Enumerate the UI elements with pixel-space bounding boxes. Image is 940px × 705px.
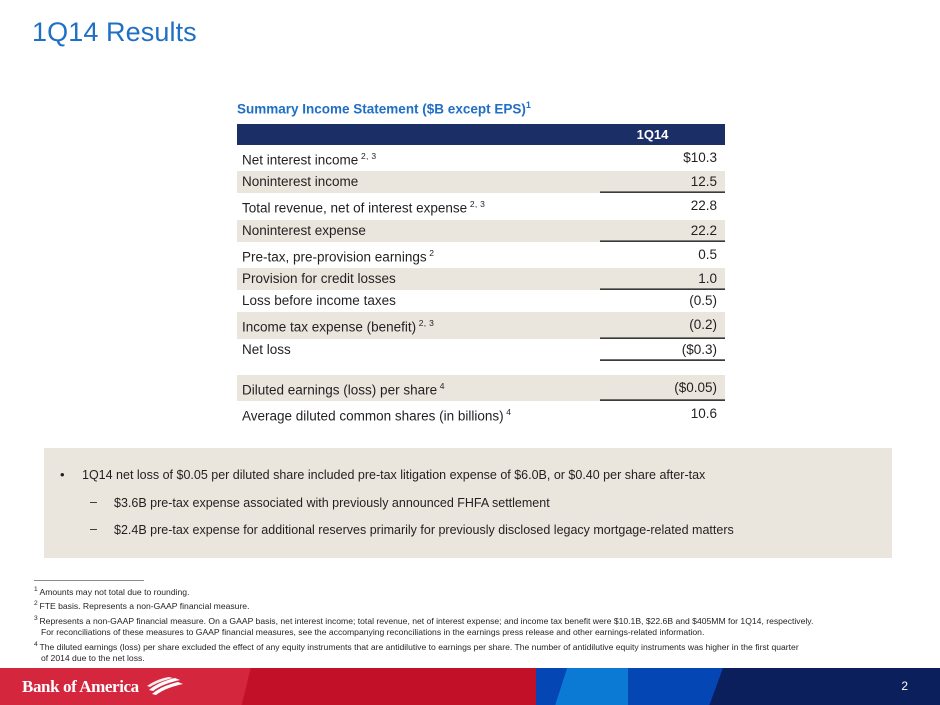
table-row-value: (0.2)	[600, 312, 725, 339]
spacer-cell	[237, 361, 600, 375]
row-footnote-ref: 2	[427, 248, 435, 258]
row-label-text: Income tax expense (benefit)	[242, 320, 416, 335]
table-row: Noninterest income12.5	[237, 171, 725, 193]
bullet-dash-icon: –	[90, 496, 114, 510]
table-row-value: $10.3	[600, 145, 725, 172]
table-row: Pre-tax, pre-provision earnings 20.5	[237, 242, 725, 269]
table-row-value: (0.5)	[600, 290, 725, 312]
row-footnote-ref: 2, 3	[467, 199, 485, 209]
row-label-text: Pre-tax, pre-provision earnings	[242, 249, 427, 264]
table-caption-footnote-ref: 1	[526, 100, 531, 110]
footnote-continuation: of 2014 due to the net loss.	[34, 653, 914, 665]
row-footnote-ref: 2, 3	[416, 318, 434, 328]
table-row-value: 22.2	[600, 220, 725, 242]
summary-income-statement: Summary Income Statement ($B except EPS)…	[237, 100, 725, 428]
table-row: Net loss($0.3)	[237, 339, 725, 361]
table-row: Noninterest expense22.2	[237, 220, 725, 242]
table-row-label: Average diluted common shares (in billio…	[237, 401, 600, 428]
commentary-panel: • 1Q14 net loss of $0.05 per diluted sha…	[44, 448, 892, 558]
table-row-label: Loss before income taxes	[237, 290, 600, 312]
footnote-item: 4The diluted earnings (loss) per share e…	[34, 639, 914, 665]
flag-stripes-icon	[147, 677, 185, 697]
table-row-label: Net loss	[237, 339, 600, 361]
row-footnote-ref: 2, 3	[358, 151, 376, 161]
table-caption-text: Summary Income Statement ($B except EPS)	[237, 102, 526, 117]
table-row: Total revenue, net of interest expense 2…	[237, 193, 725, 220]
table-row-label: Noninterest income	[237, 171, 600, 193]
table-row-value: ($0.3)	[600, 339, 725, 361]
bullet-sub-1-text: $3.6B pre-tax expense associated with pr…	[114, 496, 550, 510]
row-label-text: Loss before income taxes	[242, 293, 396, 308]
table-row: Income tax expense (benefit) 2, 3(0.2)	[237, 312, 725, 339]
logo-wordmark: Bank of America	[22, 677, 139, 697]
row-footnote-ref: 4	[504, 407, 512, 417]
bullet-primary-text: 1Q14 net loss of $0.05 per diluted share…	[82, 468, 705, 482]
table-row-label: Income tax expense (benefit) 2, 3	[237, 312, 600, 339]
footnote-marker: 2	[34, 600, 38, 607]
row-label-text: Net loss	[242, 342, 291, 357]
footnote-marker: 1	[34, 586, 38, 593]
footnote-item: 1Amounts may not total due to rounding.	[34, 584, 914, 598]
table-caption: Summary Income Statement ($B except EPS)…	[237, 100, 725, 117]
spacer-cell	[600, 361, 725, 375]
bullet-item-primary: • 1Q14 net loss of $0.05 per diluted sha…	[60, 468, 705, 482]
footnote-marker: 4	[34, 641, 38, 648]
footnote-text: FTE basis. Represents a non-GAAP financi…	[39, 601, 249, 611]
footnote-text: Represents a non-GAAP financial measure.…	[39, 616, 813, 626]
table-row-label: Total revenue, net of interest expense 2…	[237, 193, 600, 220]
row-footnote-ref: 4	[437, 381, 445, 391]
bank-of-america-logo: Bank of America	[22, 677, 185, 697]
table-row: Provision for credit losses1.0	[237, 268, 725, 290]
bullet-dash-icon: –	[90, 523, 114, 537]
table-row: Net interest income 2, 3$10.3	[237, 145, 725, 172]
slide-footer: Bank of America 2	[0, 668, 940, 705]
table-row-label: Diluted earnings (loss) per share 4	[237, 375, 600, 402]
table-row-value: ($0.05)	[600, 375, 725, 402]
page-number: 2	[901, 679, 908, 693]
footnote-text: The diluted earnings (loss) per share ex…	[39, 642, 798, 652]
table-row-label: Pre-tax, pre-provision earnings 2	[237, 242, 600, 269]
footnote-marker: 3	[34, 615, 38, 622]
table-header-row: 1Q14	[237, 124, 725, 145]
footer-band-light-blue	[536, 668, 628, 705]
footnote-divider	[34, 580, 144, 581]
row-label-text: Total revenue, net of interest expense	[242, 201, 467, 216]
bullet-item-sub-1: – $3.6B pre-tax expense associated with …	[90, 496, 550, 510]
table-spacer-row	[237, 361, 725, 375]
footnote-item: 3Represents a non-GAAP financial measure…	[34, 613, 914, 639]
financial-table: 1Q14 Net interest income 2, 3$10.3Nonint…	[237, 124, 725, 428]
financial-table-body: Net interest income 2, 3$10.3Noninterest…	[237, 145, 725, 428]
row-label-text: Average diluted common shares (in billio…	[242, 409, 504, 424]
bullet-dot-icon: •	[60, 468, 82, 482]
table-row-label: Noninterest expense	[237, 220, 600, 242]
footnote-item: 2FTE basis. Represents a non-GAAP financ…	[34, 598, 914, 612]
table-row: Diluted earnings (loss) per share 4($0.0…	[237, 375, 725, 402]
table-row-value: 1.0	[600, 268, 725, 290]
table-header-label	[237, 124, 600, 145]
table-row-value: 0.5	[600, 242, 725, 269]
table-row-value: 12.5	[600, 171, 725, 193]
row-label-text: Noninterest income	[242, 174, 358, 189]
bullet-sub-2-text: $2.4B pre-tax expense for additional res…	[114, 523, 734, 537]
table-row-label: Net interest income 2, 3	[237, 145, 600, 172]
table-row-label: Provision for credit losses	[237, 268, 600, 290]
footer-band-medium-blue	[628, 668, 700, 705]
page-title: 1Q14 Results	[32, 17, 197, 48]
bullet-item-sub-2: – $2.4B pre-tax expense for additional r…	[90, 523, 734, 537]
row-label-text: Net interest income	[242, 152, 358, 167]
table-header-value: 1Q14	[600, 124, 725, 145]
row-label-text: Provision for credit losses	[242, 271, 396, 286]
table-row-value: 10.6	[600, 401, 725, 428]
table-row: Loss before income taxes(0.5)	[237, 290, 725, 312]
footnotes: 1Amounts may not total due to rounding.2…	[34, 584, 914, 665]
table-row: Average diluted common shares (in billio…	[237, 401, 725, 428]
footnote-continuation: For reconciliations of these measures to…	[34, 627, 914, 639]
row-label-text: Diluted earnings (loss) per share	[242, 382, 437, 397]
footnote-text: Amounts may not total due to rounding.	[39, 587, 189, 597]
row-label-text: Noninterest expense	[242, 223, 366, 238]
table-row-value: 22.8	[600, 193, 725, 220]
